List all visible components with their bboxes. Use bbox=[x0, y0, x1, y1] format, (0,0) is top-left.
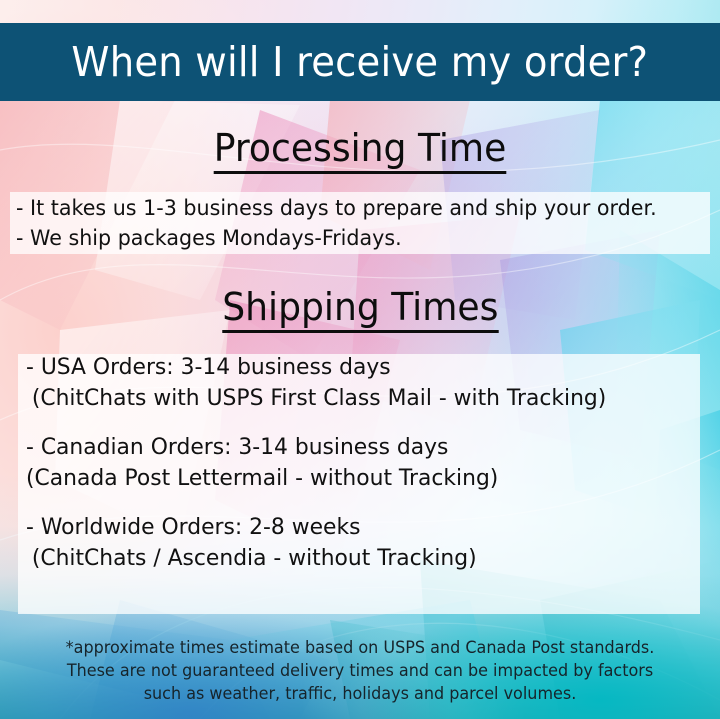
processing-line: - We ship packages Mondays-Fridays. bbox=[16, 224, 688, 254]
title-banner: When will I receive my order? bbox=[0, 23, 720, 101]
shipping-main-line: - Canadian Orders: 3-14 business days bbox=[26, 432, 686, 463]
footnote-line: such as weather, traffic, holidays and p… bbox=[11, 682, 709, 705]
page-title: When will I receive my order? bbox=[72, 38, 649, 86]
footnote-disclaimer: *approximate times estimate based on USP… bbox=[0, 636, 720, 705]
shipping-block-canada: - Canadian Orders: 3-14 business days (C… bbox=[26, 432, 706, 494]
footnote-line: *approximate times estimate based on USP… bbox=[11, 636, 709, 659]
shipping-detail-line: (ChitChats / Ascendia - without Tracking… bbox=[26, 543, 686, 574]
processing-line: - It takes us 1-3 business days to prepa… bbox=[16, 194, 688, 224]
infographic-canvas: When will I receive my order? Processing… bbox=[0, 0, 720, 719]
heading-processing-time: Processing Time bbox=[0, 126, 720, 174]
shipping-block-worldwide: - Worldwide Orders: 2-8 weeks (ChitChats… bbox=[26, 512, 706, 574]
heading-shipping-times-label: Shipping Times bbox=[222, 285, 498, 333]
heading-shipping-times: Shipping Times bbox=[0, 285, 720, 333]
shipping-detail-line: (Canada Post Lettermail - without Tracki… bbox=[26, 463, 686, 494]
shipping-block-usa: - USA Orders: 3-14 business days (ChitCh… bbox=[26, 352, 706, 414]
heading-processing-time-label: Processing Time bbox=[214, 126, 507, 174]
shipping-main-line: - Worldwide Orders: 2-8 weeks bbox=[26, 512, 686, 543]
shipping-times-list: - USA Orders: 3-14 business days (ChitCh… bbox=[26, 352, 706, 592]
shipping-detail-line: (ChitChats with USPS First Class Mail - … bbox=[26, 383, 686, 414]
footnote-line: These are not guaranteed delivery times … bbox=[11, 659, 709, 682]
processing-time-list: - It takes us 1-3 business days to prepa… bbox=[16, 194, 716, 254]
shipping-main-line: - USA Orders: 3-14 business days bbox=[26, 352, 686, 383]
